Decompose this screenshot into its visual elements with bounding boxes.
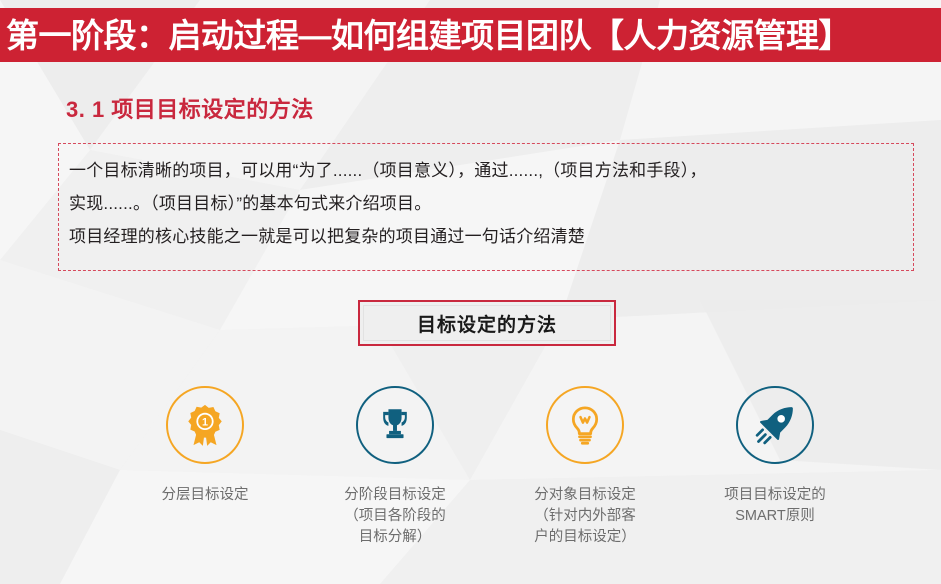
method-item-4[interactable]: 项目目标设定的 SMART原则: [680, 386, 870, 566]
center-label-text: 目标设定的方法: [417, 310, 557, 337]
center-framed-label-inner: 目标设定的方法: [363, 305, 611, 341]
note-line-1: 一个目标清晰的项目，可以用“为了......（项目意义），通过......,（项…: [69, 154, 905, 187]
methods-icon-row: 1 分层目标设定 分阶段目标设定 （项目各阶段的 目标分解）: [110, 386, 870, 566]
section-heading: 3. 1 项目目标设定的方法: [66, 92, 314, 124]
rocket-icon: [736, 386, 814, 464]
lightbulb-icon: [546, 386, 624, 464]
trophy-icon: [356, 386, 434, 464]
note-line-2: 实现......。（项目目标）”的基本句式来介绍项目。: [69, 187, 905, 220]
title-banner: 第一阶段：启动过程—如何组建项目团队【人力资源管理】: [0, 8, 941, 62]
method-caption-4: 项目目标设定的 SMART原则: [724, 485, 826, 527]
svg-text:1: 1: [202, 417, 208, 429]
note-dashed-box: 一个目标清晰的项目，可以用“为了......（项目意义），通过......,（项…: [58, 143, 914, 271]
method-caption-1: 分层目标设定: [162, 485, 249, 506]
center-framed-label: 目标设定的方法: [358, 300, 616, 346]
award-medal-icon: 1: [166, 386, 244, 464]
method-item-3[interactable]: 分对象目标设定 （针对内外部客 户的目标设定）: [490, 386, 680, 566]
slide-canvas: 第一阶段：启动过程—如何组建项目团队【人力资源管理】 3. 1 项目目标设定的方…: [0, 0, 941, 584]
method-caption-3: 分对象目标设定 （针对内外部客 户的目标设定）: [534, 485, 636, 548]
method-item-2[interactable]: 分阶段目标设定 （项目各阶段的 目标分解）: [300, 386, 490, 566]
banner-title-text: 第一阶段：启动过程—如何组建项目团队【人力资源管理】: [6, 19, 851, 52]
note-line-3: 项目经理的核心技能之一就是可以把复杂的项目通过一句话介绍清楚: [69, 220, 905, 253]
method-caption-2: 分阶段目标设定 （项目各阶段的 目标分解）: [344, 485, 446, 548]
method-item-1[interactable]: 1 分层目标设定: [110, 386, 300, 566]
